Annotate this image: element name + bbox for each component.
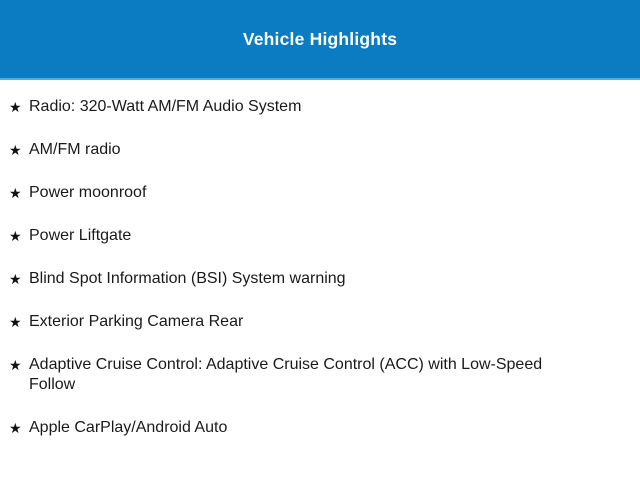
panel-body: ★ Radio: 320-Watt AM/FM Audio System ★ A… [0, 80, 640, 480]
list-item: ★ Exterior Parking Camera Rear [0, 312, 640, 332]
list-item: ★ Adaptive Cruise Control: Adaptive Crui… [0, 355, 640, 395]
star-bullet-icon: ★ [9, 97, 29, 117]
list-item-label: Exterior Parking Camera Rear [29, 312, 574, 332]
list-item-label: Power Liftgate [29, 226, 574, 246]
list-item: ★ Power moonroof [0, 183, 640, 203]
star-bullet-icon: ★ [9, 355, 29, 375]
list-item-label: Blind Spot Information (BSI) System warn… [29, 269, 574, 289]
page-title: Vehicle Highlights [223, 29, 417, 50]
list-item: ★ Apple CarPlay/Android Auto [0, 418, 640, 438]
star-bullet-icon: ★ [9, 183, 29, 203]
panel-header: Vehicle Highlights [0, 0, 640, 80]
star-bullet-icon: ★ [9, 226, 29, 246]
list-item-label: Radio: 320-Watt AM/FM Audio System [29, 97, 574, 117]
list-item: ★ Power Liftgate [0, 226, 640, 246]
vehicle-highlights-list: ★ Radio: 320-Watt AM/FM Audio System ★ A… [0, 97, 640, 438]
list-item: ★ Blind Spot Information (BSI) System wa… [0, 269, 640, 289]
list-item: ★ AM/FM radio [0, 140, 640, 160]
star-bullet-icon: ★ [9, 140, 29, 160]
vehicle-highlights-panel: Vehicle Highlights ★ Radio: 320-Watt AM/… [0, 0, 640, 480]
list-item-label: Apple CarPlay/Android Auto [29, 418, 574, 438]
star-bullet-icon: ★ [9, 418, 29, 438]
list-item-label: Adaptive Cruise Control: Adaptive Cruise… [29, 355, 574, 395]
star-bullet-icon: ★ [9, 312, 29, 332]
list-item-label: Power moonroof [29, 183, 574, 203]
list-item: ★ Radio: 320-Watt AM/FM Audio System [0, 97, 640, 117]
star-bullet-icon: ★ [9, 269, 29, 289]
list-item-label: AM/FM radio [29, 140, 574, 160]
